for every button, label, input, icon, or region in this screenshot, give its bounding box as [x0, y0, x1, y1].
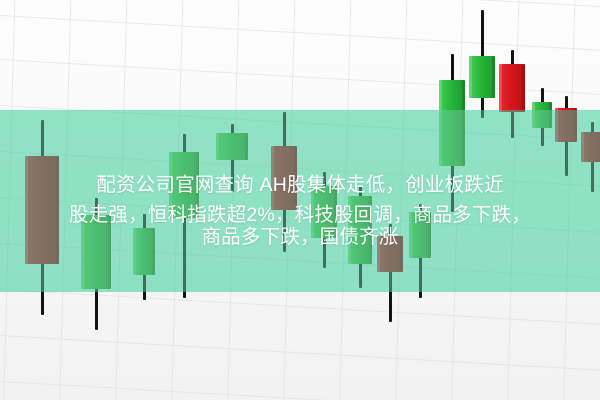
candle-body-up — [469, 56, 495, 98]
headline-line-3: 商品多下跌，国债齐涨 — [0, 222, 600, 252]
candle — [469, 10, 495, 118]
candle-body-down — [499, 64, 525, 112]
headline-line-1: 配资公司官网查询 AH股集体走低，创业板跌近 — [0, 170, 600, 200]
chart-stage: 配资公司官网查询 AH股集体走低，创业板跌近 股走强，恒科指跌超2%，科技股回调… — [0, 0, 600, 400]
